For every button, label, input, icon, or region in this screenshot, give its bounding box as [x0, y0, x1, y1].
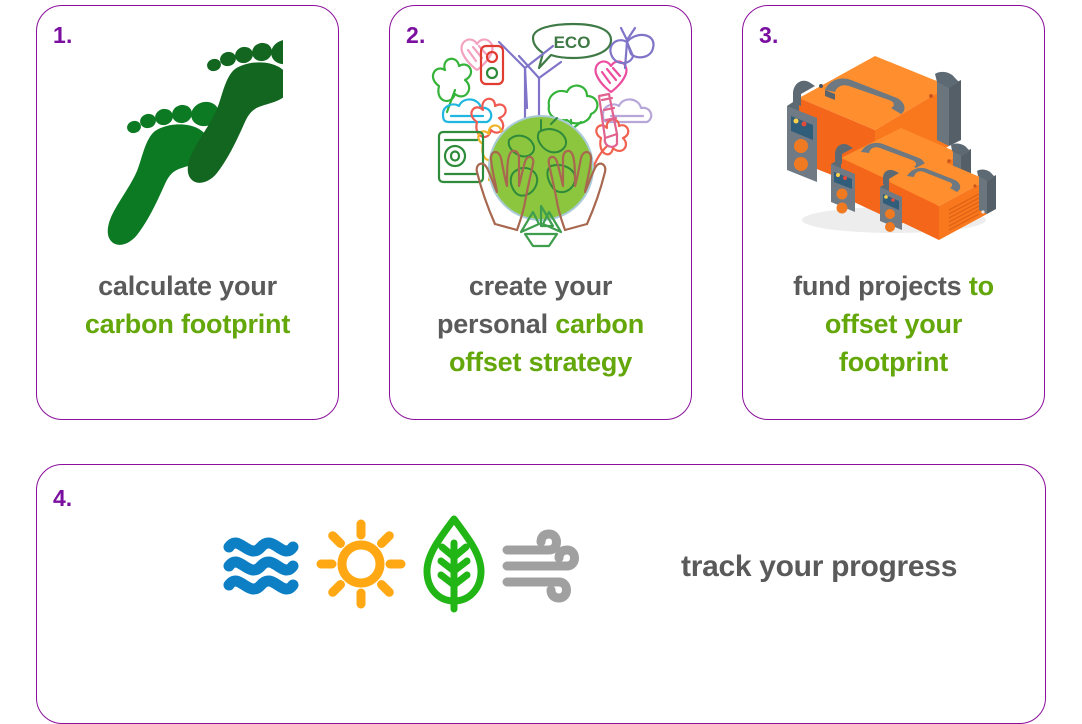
- leaf-icon: [417, 513, 491, 620]
- step-caption-2: create your personal carbon offset strat…: [416, 268, 666, 381]
- step-caption-3: fund projects to offset your footprint: [769, 268, 1019, 381]
- step-number-4: 4.: [53, 487, 72, 510]
- eco-icon-group: [217, 513, 585, 620]
- step-card-2[interactable]: 2. ECO: [389, 5, 692, 420]
- step-card-4[interactable]: 4.: [36, 464, 1046, 724]
- step-caption-1: calculate your carbon footprint: [63, 268, 313, 344]
- butterfly-icon: [610, 28, 653, 68]
- sun-icon: [315, 518, 407, 615]
- step-caption-4: track your progress: [681, 550, 957, 584]
- water-waves-icon: [217, 519, 305, 614]
- globe-icon: [489, 116, 593, 220]
- caption-plain-text: fund projects: [793, 271, 969, 301]
- wind-icon: [501, 518, 585, 615]
- step-number-1: 1.: [53, 24, 73, 47]
- steps-page: 1.: [0, 0, 1082, 639]
- recycle-bin-icon: [439, 132, 483, 182]
- footprints-illustration: [37, 6, 338, 268]
- steps-card-row: 1.: [36, 5, 1046, 420]
- step-number-2: 2.: [406, 24, 426, 47]
- step-number-3: 3.: [759, 24, 779, 47]
- step-4-content: track your progress: [217, 513, 957, 620]
- caption-plain-text: calculate your: [98, 271, 277, 301]
- eco-bubble-label: ECO: [553, 33, 590, 52]
- welding-machines-illustration: [743, 6, 1044, 268]
- eco-globe-doodle-illustration: ECO: [390, 6, 691, 268]
- caption-highlight-text: carbon footprint: [85, 309, 290, 339]
- heart-icon-right: [595, 61, 626, 92]
- step-card-1[interactable]: 1.: [36, 5, 339, 420]
- step-card-3[interactable]: 3.: [742, 5, 1045, 420]
